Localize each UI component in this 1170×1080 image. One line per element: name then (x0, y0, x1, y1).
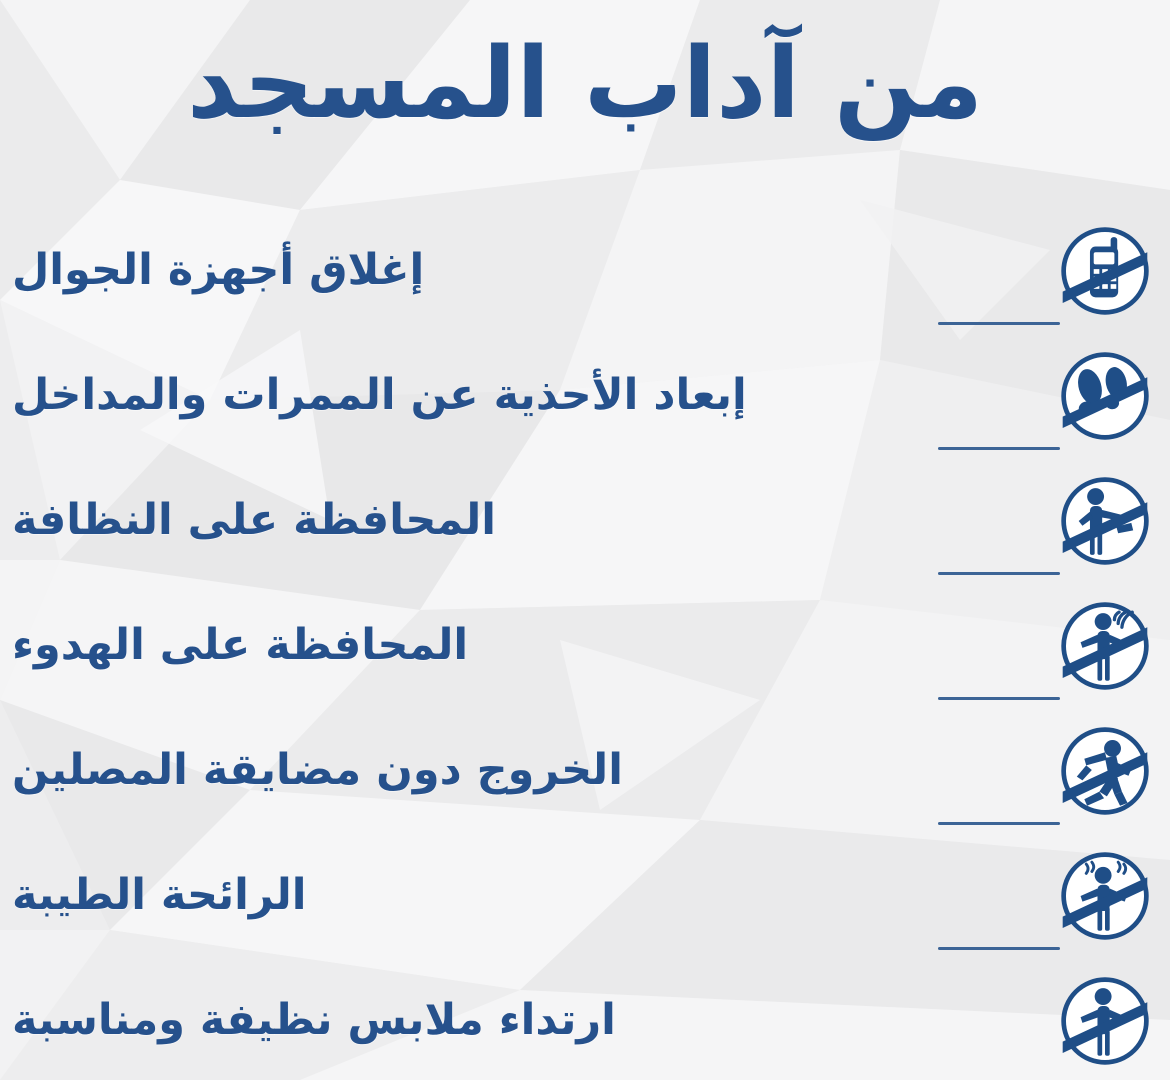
list-item-label: إبعاد الأحذية عن الممرات والمداخل (0, 369, 1044, 423)
list-item-divider (938, 822, 1060, 825)
poster-root: من آداب المسجد (0, 0, 1170, 1080)
list-item[interactable]: المحافظة على الهدوء (0, 583, 1170, 708)
no-shoes-icon (1058, 349, 1152, 443)
no-noise-icon (1058, 599, 1152, 693)
no-bad-odor-icon (1058, 849, 1152, 943)
list-item-label: الخروج دون مضايقة المصلين (0, 744, 1044, 798)
list-item-divider (938, 572, 1060, 575)
list-item-divider (938, 947, 1060, 950)
page-title: من آداب المسجد (0, 18, 1170, 150)
no-littering-icon (1058, 474, 1152, 568)
no-running-icon (1058, 724, 1152, 818)
list-item-label: ارتداء ملابس نظيفة ومناسبة (0, 994, 1044, 1048)
etiquette-list: إغلاق أجهزة الجوال إبعاد الأحذية عن المم… (0, 208, 1170, 1080)
no-mobile-phone-icon (1058, 224, 1152, 318)
list-item-divider (938, 447, 1060, 450)
no-improper-clothing-icon (1058, 974, 1152, 1068)
list-item[interactable]: إغلاق أجهزة الجوال (0, 208, 1170, 333)
list-item-label: الرائحة الطيبة (0, 869, 1044, 923)
list-item-label: المحافظة على الهدوء (0, 619, 1044, 673)
list-item-label: إغلاق أجهزة الجوال (0, 244, 1044, 298)
list-item-label: المحافظة على النظافة (0, 494, 1044, 548)
list-item[interactable]: الخروج دون مضايقة المصلين (0, 708, 1170, 833)
list-item-divider (938, 697, 1060, 700)
list-item-divider (938, 322, 1060, 325)
list-item[interactable]: إبعاد الأحذية عن الممرات والمداخل (0, 333, 1170, 458)
list-item[interactable]: المحافظة على النظافة (0, 458, 1170, 583)
list-item[interactable]: ارتداء ملابس نظيفة ومناسبة (0, 958, 1170, 1080)
list-item[interactable]: الرائحة الطيبة (0, 833, 1170, 958)
